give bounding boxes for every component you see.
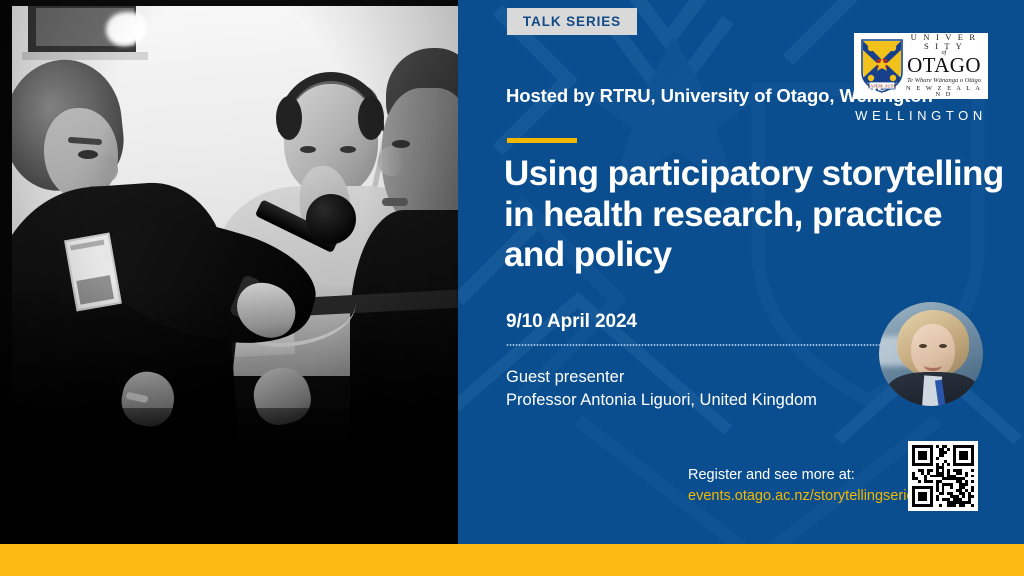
register-block: Register and see more at: events.otago.a… xyxy=(688,465,922,508)
talk-series-badge: TALK SERIES xyxy=(507,8,637,35)
register-label: Register and see more at: xyxy=(688,465,922,486)
logo-maori-name: Te Whare Wānanga o Otāgo xyxy=(906,78,982,85)
campus-label: WELLINGTON xyxy=(854,108,988,123)
content-panel: TALK SERIES SAPERE AUDE xyxy=(458,0,1024,544)
interview-photo-canvas xyxy=(0,0,458,544)
qr-code-icon[interactable] xyxy=(908,441,978,511)
talk-series-label: TALK SERIES xyxy=(523,14,621,29)
title-line-2: in health research, practice xyxy=(504,195,1004,236)
logo-otago-word: OTAGO xyxy=(906,55,982,76)
logo-university-word: U N I V E R S I T Y xyxy=(906,33,982,50)
presenter-label: Guest presenter xyxy=(506,366,817,389)
photo-vignette xyxy=(0,0,458,544)
portrait-eye-right xyxy=(939,344,947,348)
title-line-3: and policy xyxy=(504,235,1004,276)
portrait-eye-left xyxy=(919,344,927,348)
gold-accent-rule xyxy=(507,138,577,143)
hosted-by-line: Hosted by RTRU, University of Otago, Wel… xyxy=(506,85,933,107)
event-date: 9/10 April 2024 xyxy=(506,311,637,333)
portrait-smile xyxy=(924,360,942,371)
dotted-divider xyxy=(506,344,912,346)
page-title: Using participatory storytelling in heal… xyxy=(504,154,1004,276)
interview-photo xyxy=(0,0,458,544)
presenter-block: Guest presenter Professor Antonia Liguor… xyxy=(506,366,817,413)
presenter-portrait xyxy=(879,302,983,406)
register-url[interactable]: events.otago.ac.nz/storytellingseries xyxy=(688,486,922,507)
qr-code-grid xyxy=(912,445,974,507)
presenter-name: Professor Antonia Liguori, United Kingdo… xyxy=(506,389,817,412)
bottom-gold-bar xyxy=(0,544,1024,576)
event-poster: TALK SERIES SAPERE AUDE xyxy=(0,0,1024,576)
title-line-1: Using participatory storytelling xyxy=(504,154,1004,195)
